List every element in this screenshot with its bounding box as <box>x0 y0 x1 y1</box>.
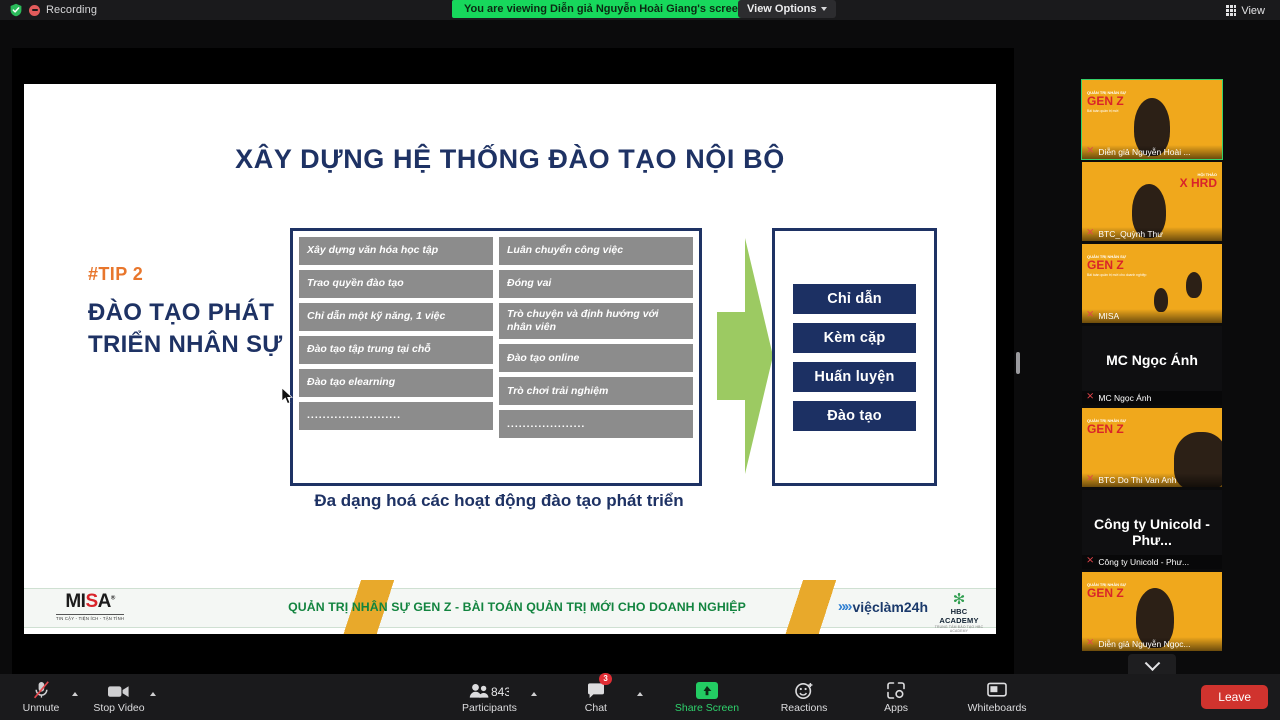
list-item: Luân chuyển công việc <box>499 237 693 265</box>
chat-label: Chat <box>585 702 607 714</box>
presentation-slide: XÂY DỰNG HỆ THỐNG ĐÀO TẠO NỘI BỘ #TIP 2 … <box>24 84 996 634</box>
right-arrow-icon <box>717 230 775 482</box>
participants-label: Participants <box>462 702 517 714</box>
filmstrip-scroll-down-button[interactable] <box>1128 654 1176 674</box>
top-bar: Recording You are viewing Diễn giả Nguyễ… <box>0 0 1280 20</box>
view-button[interactable]: View <box>1219 2 1272 19</box>
participant-filmstrip[interactable]: QUẢN TRỊ NHÂN SỰGEN ZBài toán quản trị m… <box>1020 22 1280 674</box>
mouse-cursor <box>282 388 294 410</box>
share-screen-icon <box>696 681 718 699</box>
tip-block: #TIP 2 ĐÀO TẠO PHÁT TRIỂN NHÂN SỰ <box>88 264 288 360</box>
reactions-button[interactable]: Reactions <box>777 676 831 718</box>
microphone-muted-icon: ⨯ <box>1086 638 1094 648</box>
decorative-swoosh-right <box>766 580 846 634</box>
apps-label: Apps <box>884 702 908 714</box>
misa-logo: MISA® TIN CẬY - TIỆN ÍCH - TẬN TÌNH <box>56 592 124 621</box>
microphone-muted-icon: ⨯ <box>1086 228 1094 238</box>
microphone-muted-icon: ⨯ <box>1086 146 1094 156</box>
participant-name: BTC_Quỳnh Thư <box>1098 229 1163 239</box>
share-screen-label: Share Screen <box>675 702 739 714</box>
hbc-academy-sub: TRUNG TÂM ĐÀO TẠO HBC ACADEMY <box>930 625 988 633</box>
list-item: Đào tạo elearning <box>299 369 493 397</box>
participant-tile[interactable]: MC Ngọc Ánh ⨯ MC Ngọc Ánh <box>1082 326 1222 405</box>
share-screen-button[interactable]: Share Screen <box>675 676 739 718</box>
slide-footer-banner: MISA® TIN CẬY - TIỆN ÍCH - TẬN TÌNH QUẢN… <box>24 580 996 634</box>
chevron-down-icon <box>821 7 827 11</box>
outcome-item: Đào tạo <box>793 401 916 431</box>
people-icon: 843 <box>469 681 509 699</box>
participants-options-chevron-icon[interactable] <box>531 692 537 696</box>
list-item: ........................ <box>299 402 493 430</box>
list-item: Xây dựng văn hóa học tập <box>299 237 493 265</box>
participant-display-name: MC Ngọc Ánh <box>1082 352 1222 368</box>
slide-title: XÂY DỰNG HỆ THỐNG ĐÀO TẠO NỘI BỘ <box>24 144 996 175</box>
unmute-label: Unmute <box>23 702 60 714</box>
slide-caption: Đa dạng hoá các hoạt động đào tạo phát t… <box>264 490 734 512</box>
outcome-item: Chỉ dẫn <box>793 284 916 314</box>
tip-number: #TIP 2 <box>88 264 288 285</box>
smiley-reaction-icon <box>795 681 814 699</box>
video-options-chevron-icon[interactable] <box>150 692 156 696</box>
participants-button[interactable]: 843 Participants <box>462 676 517 718</box>
participant-tile[interactable]: QUẢN TRỊ NHÂN SỰGEN ZBài toán quản trị m… <box>1082 80 1222 159</box>
grid-view-icon <box>1226 5 1236 15</box>
microphone-muted-icon <box>33 681 50 699</box>
participant-name-bar: ⨯ Diễn giả Nguyễn Ngọc... <box>1082 637 1222 651</box>
participant-name-bar: ⨯ Diễn giả Nguyễn Hoài ... <box>1082 145 1222 159</box>
misa-tagline: TIN CẬY - TIỆN ÍCH - TẬN TÌNH <box>56 614 124 621</box>
list-item: Trao quyền đào tạo <box>299 270 493 298</box>
screen-share-banner-text: You are viewing Diễn giả Nguyễn Hoài Gia… <box>464 3 745 15</box>
recording-label: Recording <box>46 4 97 16</box>
reactions-label: Reactions <box>781 702 828 714</box>
activities-panel: Xây dựng văn hóa học tập Trao quyền đào … <box>290 228 702 486</box>
leave-label: Leave <box>1218 690 1251 704</box>
participant-name-bar: ⨯ Công ty Unicold - Phư... <box>1082 555 1222 569</box>
participant-tile[interactable]: QUẢN TRỊ NHÂN SỰGEN ZBài toán quản trị m… <box>1082 244 1222 323</box>
participant-name: Diễn giả Nguyễn Ngọc... <box>1098 639 1190 649</box>
svg-text:843: 843 <box>491 685 509 699</box>
vieclam24h-logo: »» việclàm24h <box>838 598 928 615</box>
view-options-button[interactable]: View Options <box>738 0 836 18</box>
participant-tile[interactable]: QUẢN TRỊ NHÂN SỰGEN Z ⨯ Diễn giả Nguyễn … <box>1082 572 1222 651</box>
microphone-muted-icon: ⨯ <box>1086 556 1094 566</box>
screen-share-banner: You are viewing Diễn giả Nguyễn Hoài Gia… <box>452 0 757 18</box>
microphone-muted-icon: ⨯ <box>1086 392 1094 402</box>
outcomes-panel: Chỉ dẫn Kèm cặp Huấn luyện Đào tạo <box>772 228 937 486</box>
leave-button[interactable]: Leave <box>1201 685 1268 709</box>
audio-options-chevron-icon[interactable] <box>72 692 78 696</box>
recording-indicator-icon[interactable] <box>29 5 40 16</box>
list-item: Đóng vai <box>499 270 693 298</box>
meeting-toolbar: Unmute Stop Video 843 <box>0 674 1280 720</box>
activities-left-column: Xây dựng văn hóa học tập Trao quyền đào … <box>299 237 493 477</box>
star-icon: ✻ <box>930 592 988 607</box>
participant-name: MC Ngọc Ánh <box>1098 393 1151 403</box>
chat-options-chevron-icon[interactable] <box>637 692 643 696</box>
outcome-item: Huấn luyện <box>793 362 916 392</box>
shield-check-icon[interactable] <box>9 3 23 17</box>
tip-heading: ĐÀO TẠO PHÁT TRIỂN NHÂN SỰ <box>88 297 288 360</box>
stop-video-button[interactable]: Stop Video <box>92 676 146 718</box>
hbc-academy-logo: ✻ HBC ACADEMY TRUNG TÂM ĐÀO TẠO HBC ACAD… <box>930 592 988 633</box>
hbc-academy-label: HBC ACADEMY <box>930 607 988 625</box>
list-item: .................... <box>499 410 693 438</box>
view-options-label: View Options <box>747 3 816 15</box>
participant-tile[interactable]: QUẢN TRỊ NHÂN SỰGEN Z ⨯ BTC Do Thi Van A… <box>1082 408 1222 487</box>
list-item: Trò chơi trải nghiệm <box>499 377 693 405</box>
participant-name: MISA <box>1098 311 1119 321</box>
whiteboard-icon <box>987 681 1007 699</box>
vieclam24h-label: việclàm24h <box>853 599 929 615</box>
participant-tile[interactable]: Công ty Unicold - Phư... ⨯ Công ty Unico… <box>1082 490 1222 569</box>
participant-name-bar: ⨯ MISA <box>1082 309 1222 323</box>
footer-banner-text: QUẢN TRỊ NHÂN SỰ GEN Z - BÀI TOÁN QUẢN T… <box>267 580 767 634</box>
apps-button[interactable]: Apps <box>869 676 923 718</box>
unmute-button[interactable]: Unmute <box>14 676 68 718</box>
chat-unread-badge: 3 <box>599 673 611 685</box>
list-item: Trò chuyện và định hướng với nhân viên <box>499 303 693 339</box>
chevron-down-icon <box>1144 655 1160 671</box>
participant-name-bar: ⨯ BTC_Quỳnh Thư <box>1082 227 1222 241</box>
activities-right-column: Luân chuyển công việc Đóng vai Trò chuyệ… <box>499 237 693 477</box>
participant-name: BTC Do Thi Van Anh <box>1098 475 1176 485</box>
outcome-item: Kèm cặp <box>793 323 916 353</box>
list-item: Đào tạo online <box>499 344 693 372</box>
participant-display-name: Công ty Unicold - Phư... <box>1082 516 1222 548</box>
microphone-muted-icon: ⨯ <box>1086 474 1094 484</box>
camera-icon <box>108 681 130 699</box>
microphone-muted-icon: ⨯ <box>1086 310 1094 320</box>
participant-tile[interactable]: HỘI THẢOX HRD ⨯ BTC_Quỳnh Thư <box>1082 162 1222 241</box>
whiteboards-button[interactable]: Whiteboards <box>961 676 1033 718</box>
participant-name: Công ty Unicold - Phư... <box>1098 557 1189 567</box>
stop-video-label: Stop Video <box>93 702 144 714</box>
view-button-label: View <box>1241 5 1265 17</box>
participant-name-bar: ⨯ MC Ngọc Ánh <box>1082 391 1222 405</box>
list-item: Chỉ dẫn một kỹ năng, 1 việc <box>299 303 493 331</box>
whiteboards-label: Whiteboards <box>968 702 1027 714</box>
chat-button[interactable]: 3 Chat <box>569 676 623 718</box>
participant-name-bar: ⨯ BTC Do Thi Van Anh <box>1082 473 1222 487</box>
list-item: Đào tạo tập trung tại chỗ <box>299 336 493 364</box>
apps-icon <box>887 681 905 699</box>
participant-name: Diễn giả Nguyễn Hoài ... <box>1098 147 1190 157</box>
shared-screen-stage[interactable]: XÂY DỰNG HỆ THỐNG ĐÀO TẠO NỘI BỘ #TIP 2 … <box>12 48 1014 678</box>
